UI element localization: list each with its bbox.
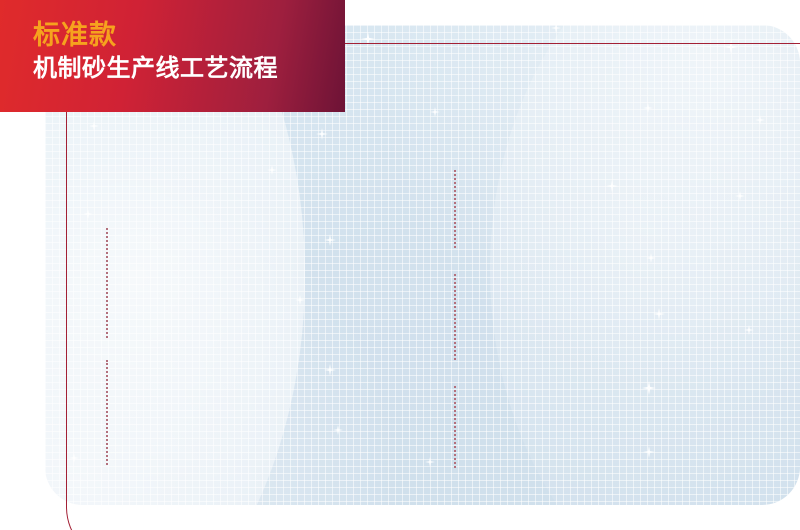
- banner-tagline: 标准款: [33, 22, 117, 49]
- header-banner: 标准款 机制砂生产线工艺流程: [0, 0, 345, 112]
- flow-connector-4-5: [454, 170, 456, 248]
- flow-connector-6-7: [454, 386, 456, 468]
- flow-connector-5-6: [454, 274, 456, 360]
- flow-connector-1-2: [106, 228, 108, 338]
- flow-connector-2-3: [106, 360, 108, 465]
- infographic-canvas: 标准款 机制砂生产线工艺流程: [0, 0, 800, 530]
- banner-title: 机制砂生产线工艺流程: [33, 57, 278, 81]
